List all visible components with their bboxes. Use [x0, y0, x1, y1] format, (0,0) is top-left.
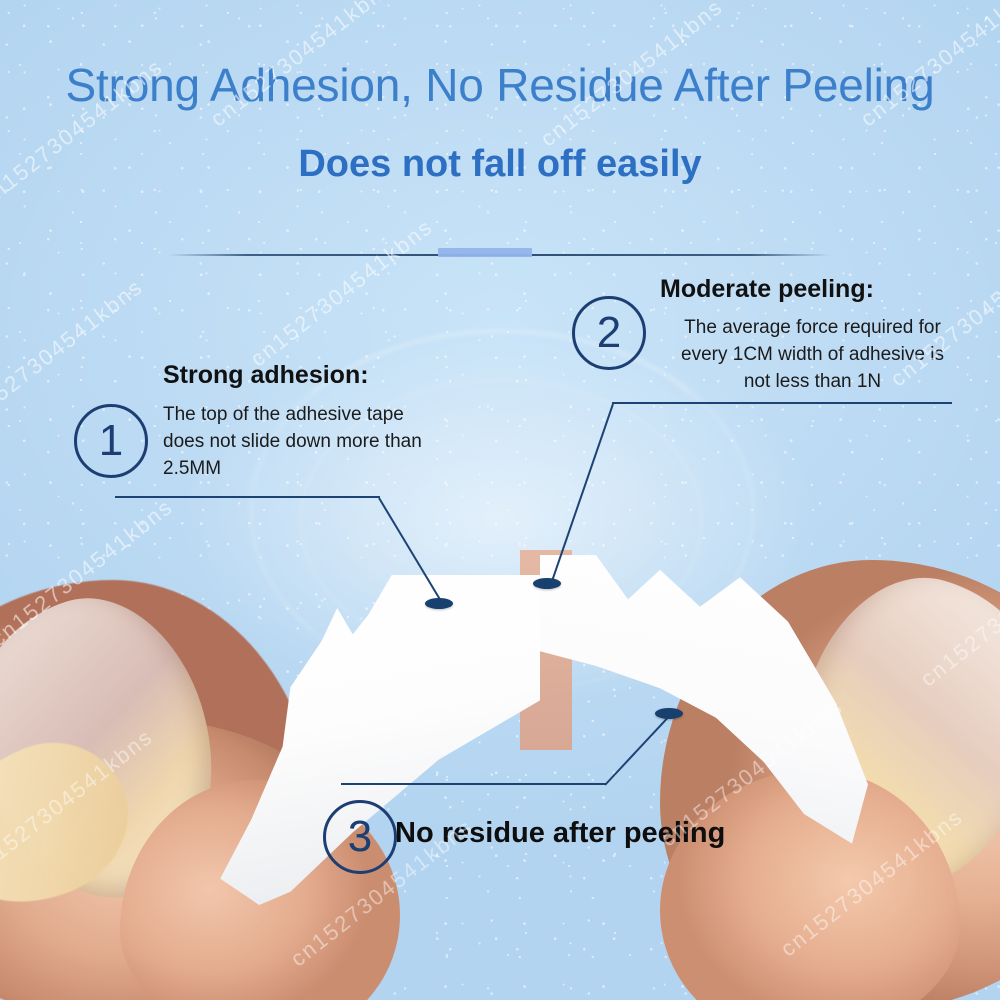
- callout-3-heading: No residue after peeling: [395, 817, 725, 850]
- callout-1-body-line: The top of the adhesive tape: [163, 402, 473, 429]
- callout-1-body-line: 2.5MM: [163, 456, 473, 483]
- callout-3-badge: 3: [323, 800, 397, 874]
- product-photo: [0, 520, 1000, 1000]
- page-subtitle: Does not fall off easily: [0, 145, 1000, 183]
- callout-1-body-line: does not slide down more than: [163, 429, 473, 456]
- callout-3-marker-dot: [655, 708, 683, 719]
- callout-2-number: 2: [597, 308, 621, 358]
- callout-1-number: 1: [99, 416, 123, 466]
- callout-2-body-line: The average force required for: [660, 315, 965, 342]
- callout-2-heading: Moderate peeling:: [660, 275, 874, 304]
- product-infographic: Strong Adhesion, No Residue After Peelin…: [0, 0, 1000, 1000]
- callout-3-leader-horizontal: [341, 783, 606, 785]
- callout-2-badge: 2: [572, 296, 646, 370]
- callout-2-body-line: every 1CM width of adhesive is: [660, 342, 965, 369]
- callout-3-number: 3: [348, 812, 372, 862]
- callout-1-body: The top of the adhesive tape does not sl…: [163, 402, 473, 483]
- page-title: Strong Adhesion, No Residue After Peelin…: [0, 62, 1000, 108]
- callout-2-body-line: not less than 1N: [660, 369, 965, 396]
- callout-2-marker-dot: [533, 578, 561, 589]
- section-divider-knob: [438, 248, 532, 257]
- callout-2-leader-horizontal: [612, 402, 952, 404]
- callout-1-leader-horizontal: [115, 496, 380, 498]
- callout-1-marker-dot: [425, 598, 453, 609]
- watermark: cn1527304541kbns: [246, 214, 439, 372]
- callout-1-badge: 1: [74, 404, 148, 478]
- callout-1-heading: Strong adhesion:: [163, 361, 369, 390]
- callout-2-body: The average force required for every 1CM…: [660, 315, 965, 396]
